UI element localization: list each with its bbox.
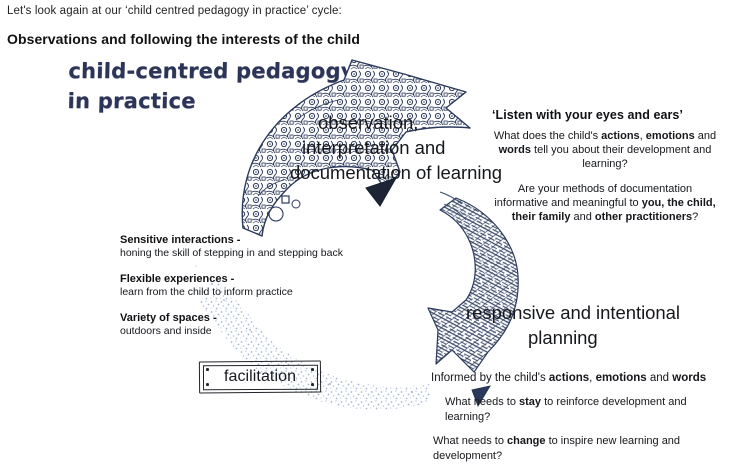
facilitation-label: facilitation xyxy=(199,361,321,393)
list-item: Sensitive interactions - honing the skil… xyxy=(120,233,350,260)
left-note-title: Flexible experiences - xyxy=(120,272,350,286)
facilitation-plaque: facilitation xyxy=(199,361,321,393)
left-note-title: Sensitive interactions - xyxy=(120,233,350,247)
left-note-title: Variety of spaces - xyxy=(120,311,350,325)
intro-line: Let's look again at our ‘child centred p… xyxy=(7,4,342,19)
note-planning-block: Informed by the child's actions, emotion… xyxy=(431,371,727,464)
pl3-bold1: change xyxy=(507,435,546,447)
note-listen-block: ‘Listen with your eyes and ears’ What do… xyxy=(492,108,718,224)
planning-note-line-3: What needs to change to inspire new lear… xyxy=(431,434,727,464)
q1-part1: What does the child's xyxy=(494,130,601,142)
pl1-bold1: actions xyxy=(549,372,589,384)
q1-bold2: emotions xyxy=(646,130,695,142)
handwritten-title-line-1: child-centred pedagogy xyxy=(68,56,369,86)
handwritten-diagram-title: child-centred pedagogy in practice xyxy=(67,56,369,116)
note-listen-question-1: What does the child's actions, emotions … xyxy=(492,129,718,171)
left-note-subtitle: learn from the child to inform practice xyxy=(120,286,350,299)
pl1-bold3: words xyxy=(672,372,706,384)
planning-note-line-1: Informed by the child's actions, emotion… xyxy=(431,371,727,386)
list-item: Variety of spaces - outdoors and inside xyxy=(120,311,350,338)
left-note-subtitle: outdoors and inside xyxy=(120,325,350,338)
stage-observation-line-2: interpretation and xyxy=(290,135,520,160)
stage-observation-line-3: documentation of learning xyxy=(290,160,520,185)
stage-planning-line-2: planning xyxy=(466,325,706,350)
cycle-stage-planning: responsive and intentional planning xyxy=(466,300,706,350)
pl1-bold2: emotions xyxy=(596,372,647,384)
pl3-part1: What needs to xyxy=(433,435,507,447)
q2-bold2: other practitioners xyxy=(595,211,692,223)
q1-part3: and xyxy=(695,130,716,142)
pl1-part1: Informed by the child's xyxy=(431,372,549,384)
q1-bold1: actions xyxy=(601,130,640,142)
note-listen-question-2: Are your methods of documentation inform… xyxy=(492,182,718,224)
pl1-part3: and xyxy=(647,372,673,384)
left-notes-list: Sensitive interactions - honing the skil… xyxy=(120,233,350,350)
left-note-subtitle: honing the skill of stepping in and step… xyxy=(120,247,350,260)
q1-part4: tell you about their development and lea… xyxy=(531,144,711,170)
q2-part2: and xyxy=(570,211,594,223)
stage-planning-line-1: responsive and intentional xyxy=(466,300,706,325)
pl2-bold1: stay xyxy=(519,396,541,408)
page-title: Observations and following the interests… xyxy=(7,31,360,47)
note-listen-heading: ‘Listen with your eyes and ears’ xyxy=(492,108,718,122)
pl2-part1: What needs to xyxy=(445,396,519,408)
q1-bold3: words xyxy=(499,144,531,156)
cycle-stage-observation: observation, interpretation and document… xyxy=(290,110,520,185)
q2-part3: ? xyxy=(692,211,698,223)
stage-observation-line-1: observation, xyxy=(290,110,520,135)
list-item: Flexible experiences - learn from the ch… xyxy=(120,272,350,299)
planning-note-line-2: What needs to stay to reinforce developm… xyxy=(431,395,727,425)
